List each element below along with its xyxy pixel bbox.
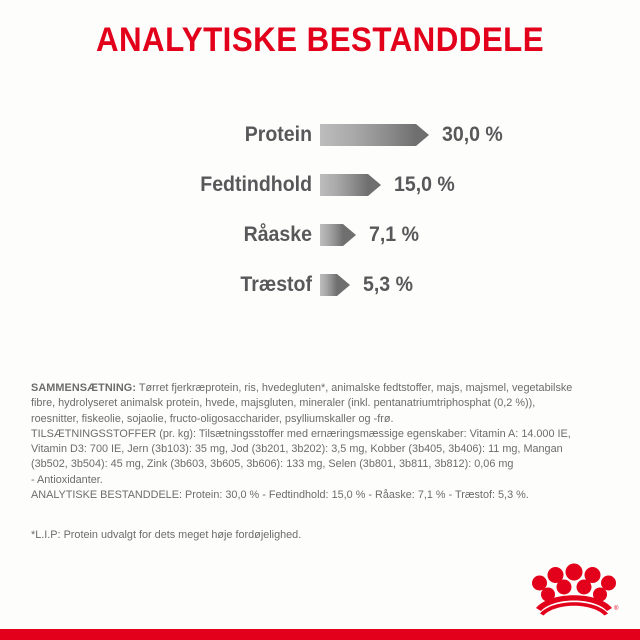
chart-bar bbox=[320, 124, 416, 146]
composition-line-4: TILSÆTNINGSSTOFFER (pr. kg): Tilsætnings… bbox=[31, 427, 603, 442]
chart-row-label: Protein bbox=[22, 123, 312, 147]
chart-bar bbox=[320, 274, 337, 296]
product-info-panel: ANALYTISKE BESTANDDELE Protein 30,0 % Fe… bbox=[0, 0, 640, 640]
page-title: ANALYTISKE BESTANDDELE bbox=[26, 20, 615, 60]
composition-line-1: SAMMENSÆTNING: Tørret fjerkræprotein, ri… bbox=[31, 381, 603, 396]
composition-line-7: - Antioxidanter. bbox=[31, 473, 603, 488]
registered-trademark-mark: ® bbox=[614, 605, 619, 612]
chart-bar-wrap bbox=[320, 174, 368, 196]
chart-row-label: Træstof bbox=[22, 273, 312, 297]
chart-bar-wrap bbox=[320, 274, 337, 296]
chart-bar bbox=[320, 224, 343, 246]
composition-line-6: (3b502, 3b504): 45 mg, Zink (3b603, 3b60… bbox=[31, 457, 603, 472]
analytical-constituents-chart: Protein 30,0 % Fedtindhold 15,0 % Råaske… bbox=[0, 110, 640, 310]
composition-line-2: fibre, hydrolyseret animalsk protein, hv… bbox=[31, 396, 603, 411]
composition-text-block: SAMMENSÆTNING: Tørret fjerkræprotein, ri… bbox=[31, 381, 603, 503]
chart-row-value: 7,1 % bbox=[369, 223, 419, 247]
chart-row-fedtindhold: Fedtindhold 15,0 % bbox=[0, 160, 640, 210]
chart-row-label: Råaske bbox=[22, 223, 312, 247]
composition-line-3: roesnitter, fiskeolie, sojaolie, fructo-… bbox=[31, 412, 603, 427]
composition-line-5: Vitamin D3: 700 IE, Jern (3b103): 35 mg,… bbox=[31, 442, 603, 457]
lip-footnote: *L.I.P: Protein udvalgt for dets meget h… bbox=[31, 528, 603, 543]
chart-bar-wrap bbox=[320, 124, 416, 146]
royal-canin-crown-icon: ® bbox=[528, 562, 620, 618]
chart-row-value: 30,0 % bbox=[442, 123, 503, 147]
chart-bar-wrap bbox=[320, 224, 343, 246]
chart-row-label: Fedtindhold bbox=[22, 173, 312, 197]
composition-line-8: ANALYTISKE BESTANDDELE: Protein: 30,0 % … bbox=[31, 488, 603, 503]
chart-bar bbox=[320, 174, 368, 196]
bottom-red-bar bbox=[0, 629, 640, 640]
chart-row-traestof: Træstof 5,3 % bbox=[0, 260, 640, 310]
composition-line-1-rest: Tørret fjerkræprotein, ris, hvedegluten*… bbox=[136, 382, 572, 394]
composition-lead-label: SAMMENSÆTNING: bbox=[31, 382, 136, 394]
chart-row-protein: Protein 30,0 % bbox=[0, 110, 640, 160]
chart-row-value: 15,0 % bbox=[394, 173, 455, 197]
chart-row-raaske: Råaske 7,1 % bbox=[0, 210, 640, 260]
chart-row-value: 5,3 % bbox=[363, 273, 413, 297]
